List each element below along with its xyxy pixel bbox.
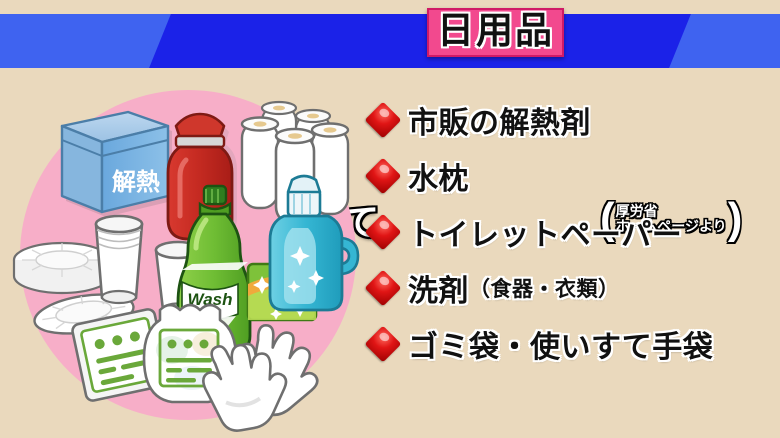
list-item-label: 水枕 (408, 154, 469, 198)
diamond-bullet-icon (365, 214, 402, 251)
household-items-illustration: 解熱 (0, 78, 370, 438)
slide-root: 自宅療養に備えて 日用品 ( 厚労省 ホームページより ) (0, 0, 780, 438)
list-item-label: トイレットペーパー (408, 210, 682, 254)
fever-box-label: 解熱 (112, 168, 160, 196)
list-item-label: 洗剤 (408, 266, 469, 310)
list-item-label: 市販の解熱剤 (408, 98, 591, 142)
title-bar-diagonal-accent-right (669, 14, 780, 68)
title-highlight-badge: 日用品 (427, 8, 564, 57)
diamond-bullet-icon (365, 270, 402, 307)
supplies-list: 市販の解熱剤 水枕 トイレットペーパー 洗剤 （食器・衣類） ゴミ袋・使いすて手… (366, 96, 780, 376)
diamond-bullet-icon (365, 326, 402, 363)
list-item: 水枕 (366, 152, 780, 200)
title-highlight-label: 日用品 (437, 12, 554, 51)
title-bar (0, 14, 780, 68)
list-item-sublabel: （食器・衣類） (469, 273, 620, 303)
title-bar-diagonal-accent-left (0, 14, 171, 68)
diamond-bullet-icon (365, 102, 402, 139)
list-item: 市販の解熱剤 (366, 96, 780, 144)
fever-reducer-box-icon: 解熱 (62, 112, 172, 217)
list-item: トイレットペーパー (366, 208, 780, 256)
list-item: ゴミ袋・使いすて手袋 (366, 320, 780, 368)
list-item: 洗剤 （食器・衣類） (366, 264, 780, 312)
diamond-bullet-icon (365, 158, 402, 195)
list-item-label: ゴミ袋・使いすて手袋 (408, 322, 713, 366)
illustration-panel: 解熱 (0, 78, 370, 438)
